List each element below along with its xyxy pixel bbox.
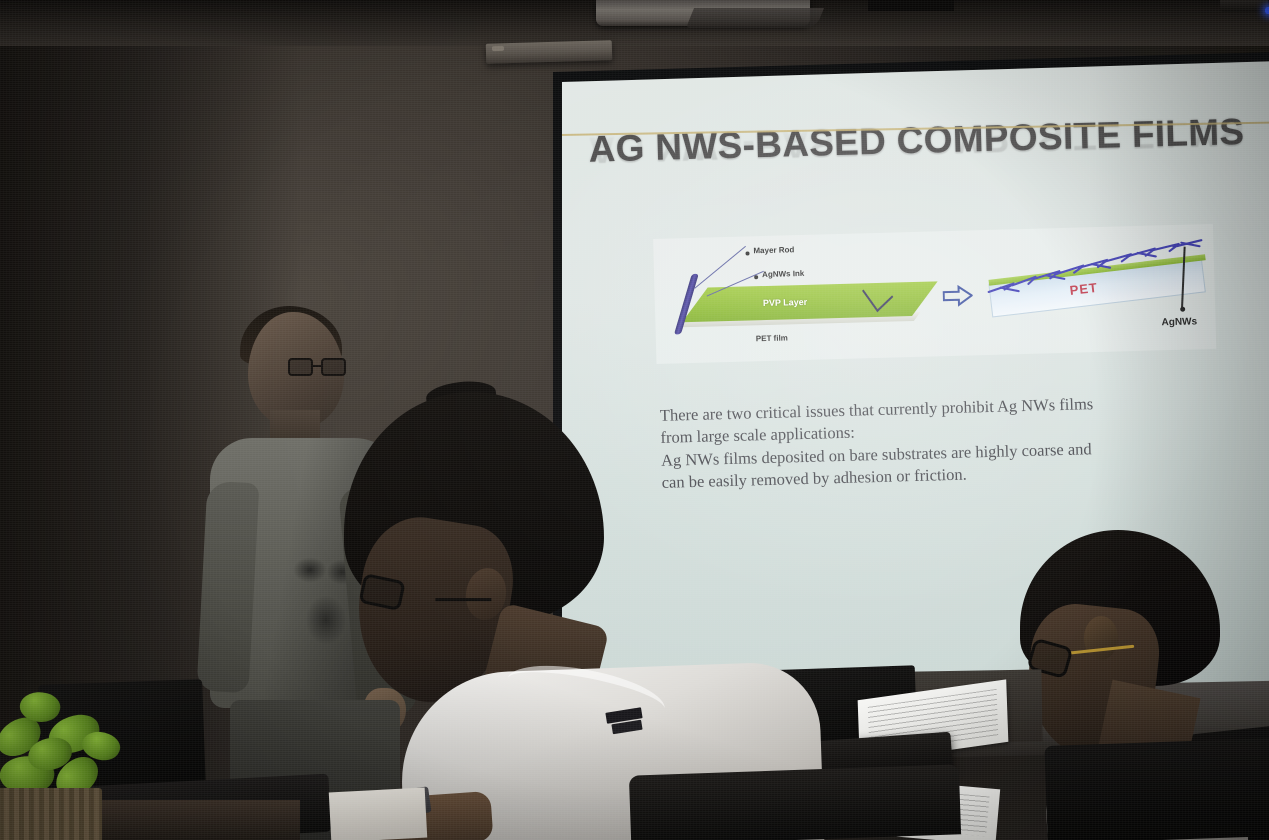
screen-roller-casing — [486, 40, 613, 64]
presenter-glasses-icon — [288, 358, 348, 377]
diagram-label-pet: PET — [1069, 280, 1099, 298]
agnw-pointer-dot — [1180, 307, 1185, 312]
screen-roller-cap — [492, 46, 504, 51]
slide-diagram: Mayer Rod AgNWs Ink PVP Layer PET film — [653, 224, 1216, 364]
presenter-glasses-bridge — [313, 365, 321, 367]
projector-ceiling-mount — [868, 0, 954, 11]
pvp-layer-block — [682, 281, 938, 322]
presenter-lens-left — [288, 358, 313, 376]
paper-card-left — [329, 788, 427, 840]
page-title: AG NWS-BASED COMPOSITE FILMS — [588, 110, 1269, 170]
projector-power-led-icon — [1265, 7, 1269, 14]
projector-lens-icon — [1220, 0, 1268, 12]
chair-dark-right — [1044, 738, 1269, 840]
student-center-glasses-temple — [435, 598, 491, 601]
diagram-label-pvp-layer: PVP Layer — [763, 297, 808, 308]
diagram-label-mayer-rod: Mayer Rod — [753, 245, 794, 255]
process-arrow-icon — [942, 284, 973, 307]
potted-green-plant — [0, 676, 154, 840]
presenter-lens-right — [321, 358, 346, 376]
plant-pot — [0, 788, 102, 840]
diagram-label-agnws: AgNWs — [1161, 316, 1197, 328]
leader-dot-rod — [745, 251, 749, 255]
diagram-label-agnws-ink: AgNWs Ink — [762, 269, 804, 279]
presenter-arm-left — [197, 481, 260, 693]
projector-rear-body — [686, 8, 824, 28]
chair-foreground — [629, 764, 961, 840]
agnw-network-icon — [983, 238, 1215, 304]
leader-dot-ink — [754, 275, 758, 279]
diagram-label-pet-film: PET film — [756, 333, 788, 343]
lecture-room-photo: AG NWS-BASED COMPOSITE FILMS AG NWS-BASE… — [0, 0, 1269, 840]
